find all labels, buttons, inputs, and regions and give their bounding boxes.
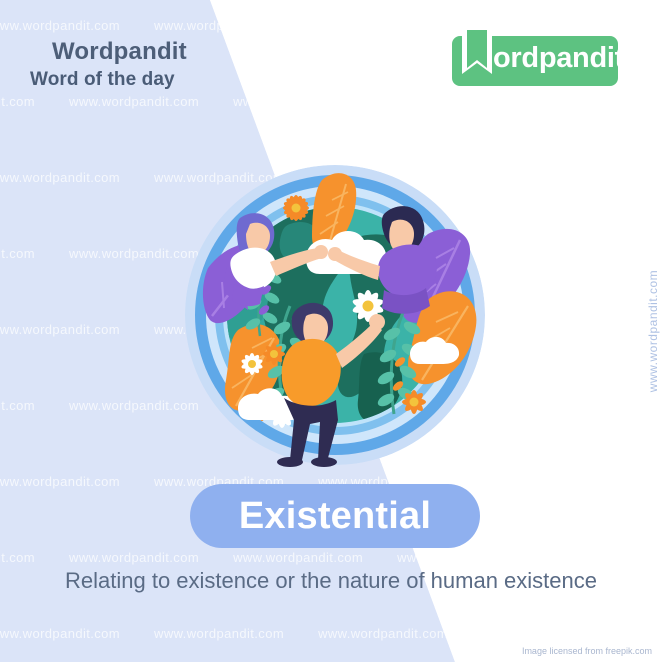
side-watermark: www.wordpandit.com [646,270,660,392]
watermark-text: www.wordpandit.com [482,626,612,641]
watermark-text: www.wordpandit.com [646,474,662,489]
watermark-text: www.wordpandit.com [561,246,662,261]
word-definition: Relating to existence or the nature of h… [0,568,662,594]
watermark-text: www.wordpandit.com [69,94,199,109]
watermark-text: www.wordpandit.com [0,18,120,33]
watermark-row: www.wordpandit.comwww.wordpandit.comwww.… [0,18,662,33]
watermark-text: www.wordpandit.com [561,398,662,413]
word-of-the-day-card: www.wordpandit.comwww.wordpandit.comwww.… [0,0,662,662]
watermark-text: www.wordpandit.com [233,550,363,565]
watermark-text: www.wordpandit.com [0,170,120,185]
watermark-text: www.wordpandit.com [482,322,612,337]
watermark-text: www.wordpandit.com [646,170,662,185]
watermark-text: www.wordpandit.com [561,550,662,565]
watermark-text: www.wordpandit.com [0,474,120,489]
watermark-text: www.wordpandit.com [397,550,527,565]
watermark-text: www.wordpandit.com [0,94,35,109]
page-title: Wordpandit [52,38,187,66]
page-subtitle: Word of the day [30,69,175,91]
watermark-text: www.wordpandit.com [646,626,662,641]
logo-text: ordpandit [493,42,624,75]
watermark-text: www.wordpandit.com [154,18,284,33]
watermark-text: www.wordpandit.com [318,18,448,33]
wordpandit-logo[interactable]: ordpandit [452,36,618,86]
watermark-text: www.wordpandit.com [69,550,199,565]
watermark-text: www.wordpandit.com [0,322,120,337]
image-credit: Image licensed from freepik.com [522,646,652,656]
watermark-row: www.wordpandit.comwww.wordpandit.comwww.… [0,550,662,565]
orange-flower-left [263,343,285,365]
watermark-text: www.wordpandit.com [482,170,612,185]
watermark-text: www.wordpandit.com [0,398,35,413]
watermark-text: www.wordpandit.com [0,626,120,641]
watermark-row: www.wordpandit.comwww.wordpandit.comwww.… [0,94,662,109]
word-pill[interactable]: Existential [190,484,480,548]
bookmark-icon [460,30,494,80]
watermark-text: www.wordpandit.com [482,18,612,33]
watermark-text: www.wordpandit.com [646,322,662,337]
watermark-text: www.wordpandit.com [0,246,35,261]
watermark-row: www.wordpandit.comwww.wordpandit.comwww.… [0,626,662,641]
watermark-text: www.wordpandit.com [318,626,448,641]
watermark-text: www.wordpandit.com [233,94,363,109]
watermark-text: www.wordpandit.com [154,626,284,641]
watermark-text: www.wordpandit.com [482,474,612,489]
watermark-text: www.wordpandit.com [561,94,662,109]
orange-flower-right-lower [402,390,426,414]
earth-globe-with-people-illustration [178,158,492,472]
watermark-text: www.wordpandit.com [397,94,527,109]
word-term: Existential [239,495,431,538]
watermark-text: www.wordpandit.com [646,18,662,33]
watermark-text: www.wordpandit.com [0,550,35,565]
